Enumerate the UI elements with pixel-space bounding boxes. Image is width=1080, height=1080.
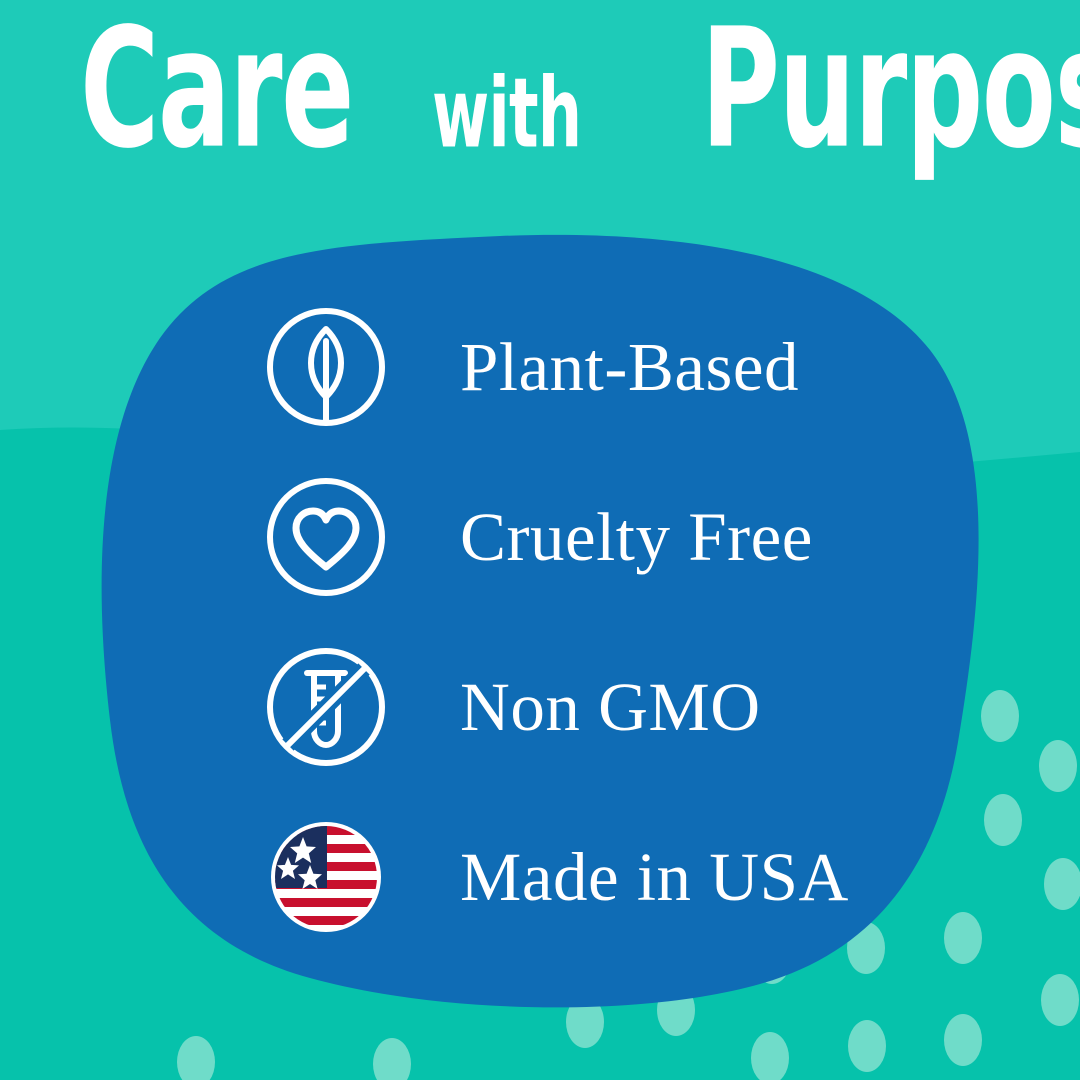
badge-list: Plant-Based Cruelty Free [262,282,962,962]
usa-flag-icon-svg [262,813,390,941]
badge-row-plant-based: Plant-Based [262,282,962,452]
prohibition-slash [288,669,364,745]
heart-shape [296,511,356,567]
pet-care-with-purpose-graphic: Pet Care with Purpose ® Plant-Based [0,0,1080,1080]
badge-label-plant-based: Plant-Based [460,333,799,402]
heart-icon-svg [262,473,390,601]
flag-content [275,826,377,928]
leaf-in-circle-icon [262,303,390,431]
badge-row-made-in-usa: Made in USA [262,792,962,962]
badge-label-cruelty-free: Cruelty Free [460,503,813,572]
badge-label-non-gmo: Non GMO [460,673,761,742]
heart-in-circle-icon [262,473,390,601]
no-gmo-icon-svg [262,643,390,771]
usa-flag-circle-icon [262,813,390,941]
badge-row-cruelty-free: Cruelty Free [262,452,962,622]
badge-label-made-in-usa: Made in USA [460,843,849,912]
no-gmo-test-tube-icon [262,643,390,771]
badge-row-non-gmo: Non GMO [262,622,962,792]
heart-circle-outline [270,481,382,593]
leaf-icon-svg [262,303,390,431]
